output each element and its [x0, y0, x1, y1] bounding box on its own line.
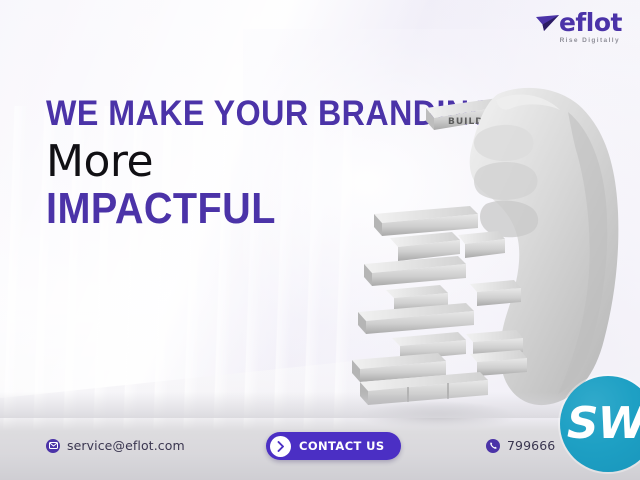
contact-phone[interactable]: 799666 — [486, 438, 555, 453]
contact-phone-text: 799666 — [507, 438, 555, 453]
sw-watermark-label: SW — [567, 402, 640, 446]
jenga-tower — [352, 206, 527, 405]
contact-email-text: service@eflot.com — [67, 438, 185, 453]
chevron-right-icon — [270, 436, 291, 457]
logo-tagline: Rise Digitally — [535, 38, 620, 45]
envelope-icon — [46, 439, 60, 453]
brand-logo[interactable]: eflot Rise Digitally — [535, 10, 622, 45]
logo-row: eflot — [535, 10, 622, 35]
contact-us-button[interactable]: CONTACT US — [266, 432, 401, 460]
phone-icon — [486, 439, 500, 453]
contact-us-label: CONTACT US — [299, 439, 385, 453]
paper-plane-icon — [535, 13, 561, 33]
contact-email[interactable]: service@eflot.com — [46, 438, 185, 453]
logo-wordmark: eflot — [559, 10, 622, 35]
marketing-poster: eflot Rise Digitally WE MAKE YOUR BRANDI… — [0, 0, 640, 480]
